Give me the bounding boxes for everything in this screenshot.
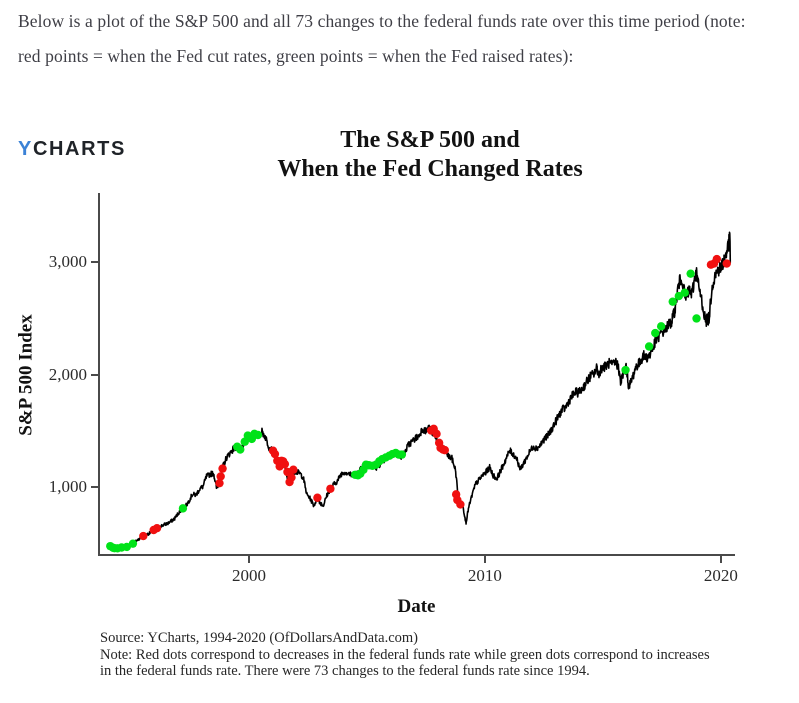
- x-axis-title: Date: [98, 596, 735, 618]
- y-tick-mark: [91, 486, 98, 488]
- chart-footnote: Source: YCharts, 1994-2020 (OfDollarsAnd…: [100, 630, 720, 680]
- x-tick-label: 2020: [704, 566, 738, 586]
- series-plot: [98, 193, 735, 556]
- ycharts-logo-text: CHARTS: [33, 138, 126, 160]
- rate-hike-marker: [657, 322, 665, 330]
- y-tick-label: 2,000: [49, 365, 87, 385]
- ycharts-logo: YCHARTS: [18, 138, 126, 161]
- rate-hike-marker: [645, 342, 653, 350]
- y-axis-title-label: S&P 500 Index: [16, 314, 38, 435]
- chart-figure: YCHARTS The S&P 500 and When the Fed Cha…: [0, 118, 799, 703]
- rate-cut-marker: [313, 494, 321, 502]
- y-tick-label: 3,000: [49, 252, 87, 272]
- y-tick-mark: [91, 261, 98, 263]
- ycharts-logo-y: Y: [18, 138, 33, 160]
- rate-cut-marker: [281, 460, 289, 468]
- rate-hike-marker: [179, 504, 187, 512]
- rate-hike-marker: [692, 314, 700, 322]
- x-tick-mark: [720, 556, 722, 563]
- rate-cut-marker: [153, 524, 161, 532]
- rate-change-markers: [106, 255, 731, 553]
- intro-paragraph: Below is a plot of the S&P 500 and all 7…: [18, 4, 758, 74]
- rate-hike-marker: [686, 269, 694, 277]
- rate-cut-marker: [289, 466, 297, 474]
- chart-title-line-1: The S&P 500 and: [190, 126, 670, 155]
- rate-cut-marker: [139, 532, 147, 540]
- rate-cut-marker: [287, 473, 295, 481]
- footnote-source: Source: YCharts, 1994-2020 (OfDollarsAnd…: [100, 630, 720, 647]
- rate-cut-marker: [326, 485, 334, 493]
- rate-cut-marker: [441, 446, 449, 454]
- sp500-line: [107, 232, 730, 549]
- rate-hike-marker: [621, 366, 629, 374]
- x-tick-label: 2000: [232, 566, 266, 586]
- x-tick-mark: [248, 556, 250, 563]
- rate-cut-marker: [713, 255, 721, 263]
- rate-hike-marker: [254, 431, 262, 439]
- x-tick-label: 2010: [468, 566, 502, 586]
- rate-cut-marker: [456, 500, 464, 508]
- rate-cut-marker: [216, 472, 224, 480]
- chart-title-line-2: When the Fed Changed Rates: [190, 155, 670, 184]
- x-tick-mark: [484, 556, 486, 563]
- rate-hike-marker: [129, 539, 137, 547]
- y-tick-label: 1,000: [49, 477, 87, 497]
- rate-hike-marker: [236, 445, 244, 453]
- rate-hike-marker: [398, 450, 406, 458]
- rate-cut-marker: [432, 430, 440, 438]
- plot-area: 1,0002,0003,000200020102020: [98, 193, 735, 556]
- y-axis-title: S&P 500 Index: [14, 193, 40, 556]
- rate-hike-marker: [681, 289, 689, 297]
- rate-hike-marker: [651, 329, 659, 337]
- footnote-note: Note: Red dots correspond to decreases i…: [100, 647, 720, 680]
- rate-cut-marker: [218, 464, 226, 472]
- chart-title: The S&P 500 and When the Fed Changed Rat…: [190, 126, 670, 184]
- rate-cut-marker: [723, 259, 731, 267]
- y-tick-mark: [91, 374, 98, 376]
